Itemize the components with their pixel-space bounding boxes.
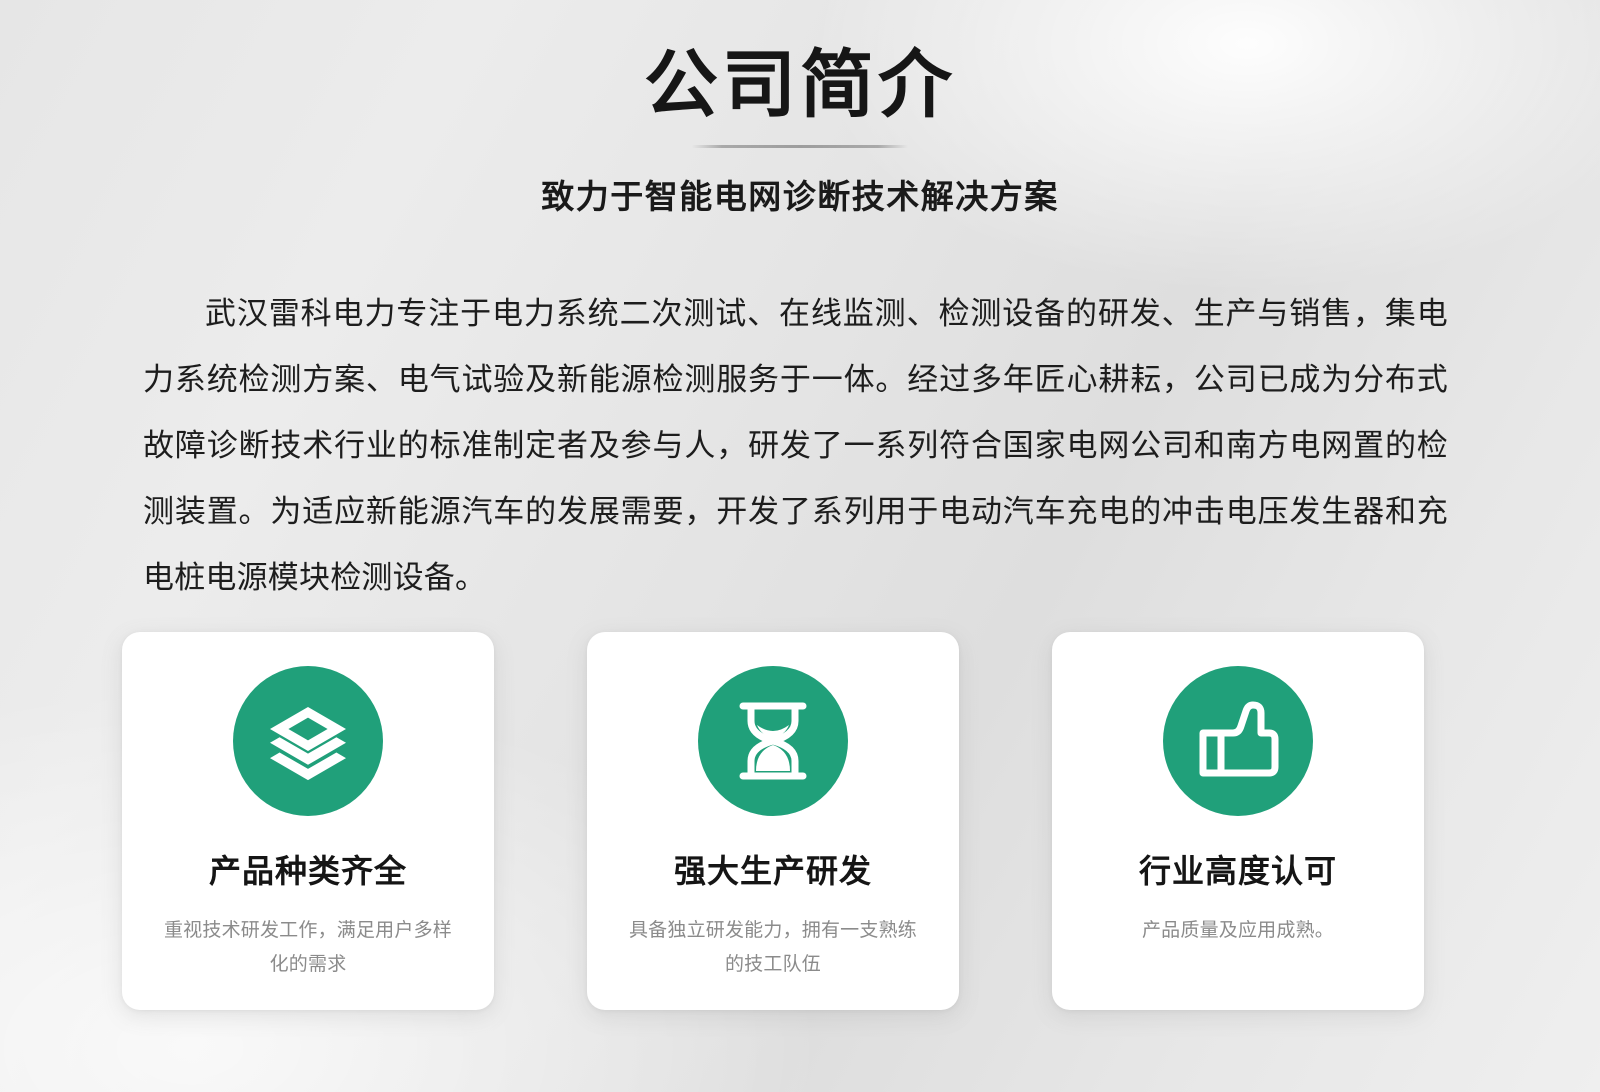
hourglass-icon-badge: [698, 666, 848, 816]
thumbs-up-icon: [1195, 699, 1281, 783]
feature-card-description: 产品质量及应用成熟。: [1088, 914, 1388, 948]
feature-card[interactable]: 产品种类齐全 重视技术研发工作，满足用户多样化的需求: [122, 632, 494, 1010]
company-intro-paragraph: 武汉雷科电力专注于电力系统二次测试、在线监测、检测设备的研发、生产与销售，集电力…: [143, 281, 1448, 611]
feature-card[interactable]: 行业高度认可 产品质量及应用成熟。: [1052, 632, 1424, 1010]
company-intro-page: 公司简介 致力于智能电网诊断技术解决方案 武汉雷科电力专注于电力系统二次测试、在…: [0, 0, 1600, 1092]
feature-card-title: 强大生产研发: [674, 846, 872, 892]
hourglass-icon: [733, 699, 813, 783]
page-header: 公司简介 致力于智能电网诊断技术解决方案: [0, 0, 1600, 218]
page-subtitle: 致力于智能电网诊断技术解决方案: [0, 170, 1600, 218]
thumbs-up-icon-badge: [1163, 666, 1313, 816]
feature-card-list: 产品种类齐全 重视技术研发工作，满足用户多样化的需求: [122, 632, 1424, 1010]
feature-card-description: 重视技术研发工作，满足用户多样化的需求: [158, 914, 458, 982]
feature-card[interactable]: 强大生产研发 具备独立研发能力，拥有一支熟练的技工队伍: [587, 632, 959, 1010]
layers-icon-badge: [233, 666, 383, 816]
layers-icon: [266, 699, 350, 783]
page-title: 公司简介: [0, 0, 1600, 127]
feature-card-title: 产品种类齐全: [209, 846, 407, 892]
title-divider: [692, 145, 908, 148]
feature-card-description: 具备独立研发能力，拥有一支熟练的技工队伍: [623, 914, 923, 982]
feature-card-title: 行业高度认可: [1139, 846, 1337, 892]
